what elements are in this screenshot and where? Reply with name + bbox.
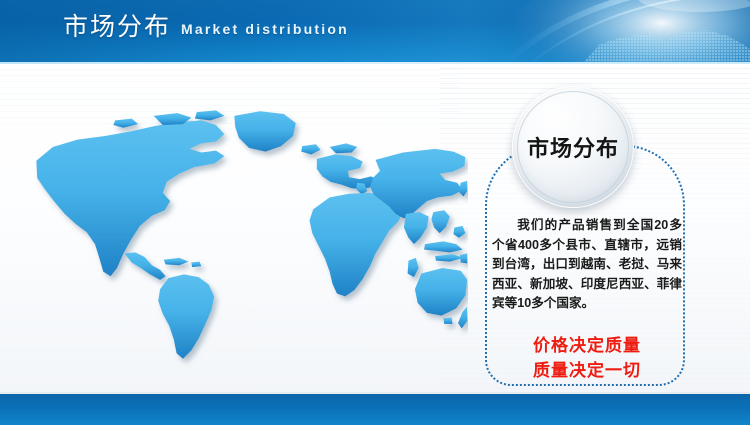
slide-canvas: 市场分布 Market distribution: [0, 0, 750, 440]
footer-base: [0, 425, 750, 440]
circle-badge: 市场分布: [512, 86, 634, 208]
page-title-cn: 市场分布: [63, 12, 171, 42]
panel-slogan: 价格决定质量 质量决定一切: [492, 333, 682, 383]
header-bar: 市场分布 Market distribution: [0, 0, 750, 62]
circle-badge-label: 市场分布: [527, 131, 619, 163]
footer-bar: [0, 394, 750, 425]
slogan-line-1: 价格决定质量: [492, 333, 682, 358]
page-title-en: Market distribution: [181, 18, 349, 42]
world-map: [8, 92, 468, 367]
panel-body-text: 我们的产品销售到全国20多个省400多个县市、直辖市，远销到台湾，出口到越南、老…: [492, 216, 682, 314]
globe-halftone-icon: [460, 0, 750, 62]
page-title: 市场分布 Market distribution: [63, 12, 349, 42]
slogan-line-2: 质量决定一切: [492, 358, 682, 383]
